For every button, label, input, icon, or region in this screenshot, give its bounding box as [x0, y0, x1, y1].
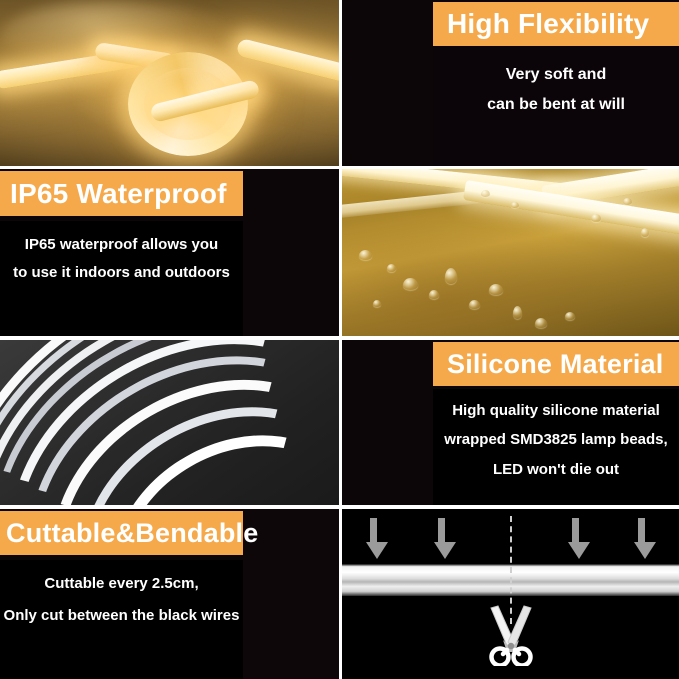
arrow-head: [634, 542, 656, 559]
image-high-flexibility: [0, 0, 340, 167]
text-panel-ip65-waterproof: IP65 Waterproof IP65 waterproof allows y…: [0, 168, 340, 338]
description-line: IP65 waterproof allows you: [0, 231, 243, 259]
water-droplet: [359, 250, 372, 260]
banner-label: IP65 Waterproof: [10, 180, 227, 208]
water-droplet: [641, 228, 649, 237]
water-droplet: [445, 268, 457, 284]
arrow-head: [568, 542, 590, 559]
arrow-down-icon: [634, 518, 648, 559]
panel-side-strip: [341, 0, 433, 167]
banner-label: Silicone Material: [447, 351, 663, 378]
description-silicone-material: High quality silicone material wrapped S…: [433, 396, 679, 484]
description-line: Cuttable every 2.5cm,: [0, 568, 243, 600]
water-droplet: [511, 202, 519, 208]
banner-ip65-waterproof: IP65 Waterproof: [0, 171, 243, 216]
water-droplet: [403, 278, 418, 290]
text-panel-silicone-material: Silicone Material High quality silicone …: [341, 339, 679, 507]
arrow-down-icon: [366, 518, 380, 559]
description-line: wrapped SMD3825 lamp beads,: [433, 425, 679, 454]
grid-divider-horizontal: [0, 336, 679, 340]
description-line: LED won't die out: [433, 455, 679, 484]
led-glow: [0, 0, 230, 70]
water-droplet: [429, 290, 439, 299]
image-ip65-waterproof: [341, 168, 679, 338]
water-droplet: [489, 284, 503, 295]
panel-side-strip: [243, 168, 340, 338]
description-line: High quality silicone material: [433, 396, 679, 425]
water-droplet: [535, 318, 547, 328]
description-line: Only cut between the black wires: [0, 600, 243, 632]
image-cuttable-bendable: [341, 508, 679, 679]
grid-divider-horizontal: [0, 166, 679, 169]
arrow-head: [366, 542, 388, 559]
arrow-shaft: [638, 518, 645, 542]
banner-high-flexibility: High Flexibility: [433, 2, 679, 46]
led-tube-segment: [236, 38, 340, 84]
water-droplet: [481, 190, 490, 197]
text-panel-cuttable-bendable: Cuttable&Bendable Cuttable every 2.5cm, …: [0, 508, 340, 679]
panel-side-strip: [341, 339, 433, 507]
banner-cuttable-bendable: Cuttable&Bendable: [0, 511, 243, 555]
banner-label: Cuttable&Bendable: [6, 520, 258, 547]
water-droplet: [469, 300, 480, 309]
scissors-icon: [481, 604, 541, 666]
description-line: can be bent at will: [433, 90, 679, 120]
water-droplet: [513, 306, 522, 319]
arrow-shaft: [438, 518, 445, 542]
water-droplet: [373, 300, 381, 307]
description-line: Very soft and: [433, 60, 679, 90]
banner-label: High Flexibility: [447, 10, 649, 38]
banner-silicone-material: Silicone Material: [433, 342, 679, 386]
feature-collage: High Flexibility Very soft and can be be…: [0, 0, 679, 679]
water-droplet: [565, 312, 575, 320]
text-panel-high-flexibility: High Flexibility Very soft and can be be…: [341, 0, 679, 167]
description-ip65-waterproof: IP65 waterproof allows you to use it ind…: [0, 231, 243, 287]
description-cuttable-bendable: Cuttable every 2.5cm, Only cut between t…: [0, 568, 243, 631]
arrow-head: [434, 542, 456, 559]
water-droplet: [387, 264, 396, 272]
arrow-shaft: [572, 518, 579, 542]
water-droplet: [591, 214, 601, 222]
description-line: to use it indoors and outdoors: [0, 259, 243, 287]
grid-divider-horizontal: [0, 505, 679, 509]
arrow-down-icon: [568, 518, 582, 559]
arrow-shaft: [370, 518, 377, 542]
image-silicone-material: [0, 339, 340, 507]
arrow-down-icon: [434, 518, 448, 559]
water-droplet: [623, 198, 632, 205]
description-high-flexibility: Very soft and can be bent at will: [433, 60, 679, 119]
